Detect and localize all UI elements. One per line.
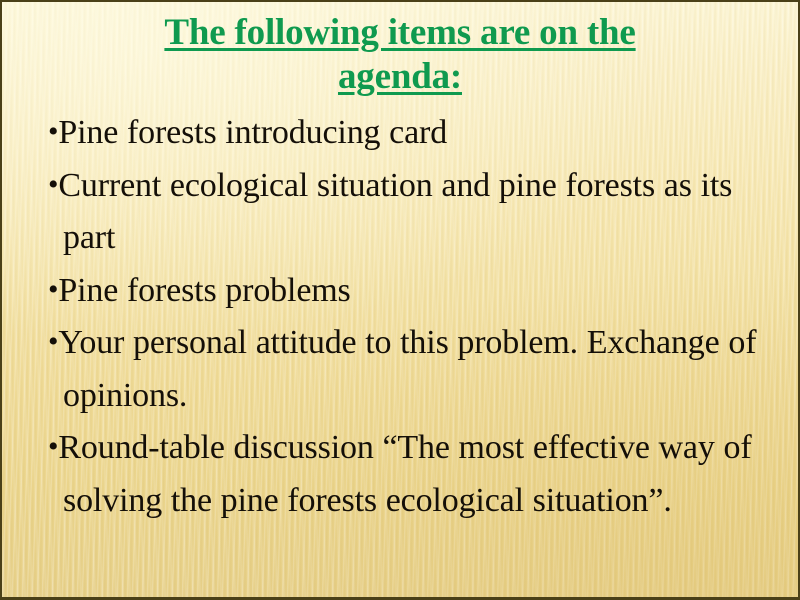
slide-title: The following items are on the agenda: — [2, 2, 798, 99]
title-line-2: agenda: — [30, 55, 770, 99]
bullet-icon: • — [48, 115, 58, 148]
bullet-icon: • — [48, 168, 58, 201]
list-item: •Your personal attitude to this problem.… — [48, 317, 788, 422]
list-item: •Round-table discussion “The most effect… — [48, 422, 788, 527]
list-item-text: Current ecological situation and pine fo… — [58, 167, 732, 257]
slide-content: The following items are on the agenda: •… — [2, 2, 798, 597]
bullet-icon: • — [48, 273, 58, 306]
title-line-1-text: The following items are on the — [161, 12, 638, 53]
title-line-1: The following items are on the — [30, 11, 770, 55]
list-item-text: Pine forests problems — [58, 272, 350, 309]
list-item-text: Your personal attitude to this problem. … — [58, 324, 756, 414]
bullet-icon: • — [48, 430, 58, 463]
list-item-text: Pine forests introducing card — [58, 114, 447, 151]
list-item: •Pine forests problems — [48, 265, 788, 318]
bullet-icon: • — [48, 325, 58, 358]
list-item-text: Round-table discussion “The most effecti… — [58, 429, 751, 519]
list-item: •Current ecological situation and pine f… — [48, 160, 788, 265]
agenda-bullet-list: •Pine forests introducing card •Current … — [2, 107, 798, 527]
list-item: •Pine forests introducing card — [48, 107, 788, 160]
presentation-slide: The following items are on the agenda: •… — [0, 0, 800, 600]
title-line-2-text: agenda: — [335, 56, 465, 97]
